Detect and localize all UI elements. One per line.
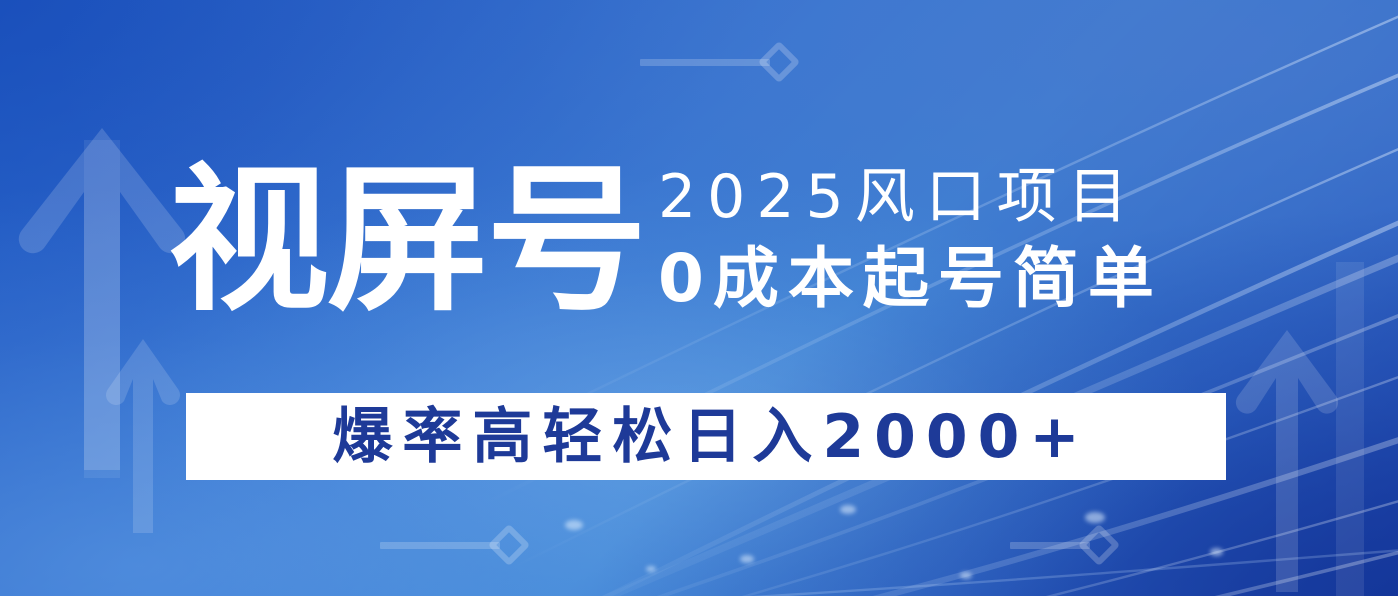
subheading-line-2: 0成本起号简单 <box>658 236 1163 322</box>
tagline-text: 爆率高轻松日入2000+ <box>322 405 1089 469</box>
brand-title: 视屏号 <box>168 152 645 330</box>
subheading-stack: 2025风口项目 0成本起号简单 <box>658 158 1163 322</box>
tagline-banner: 爆率高轻松日入2000+ <box>186 393 1226 480</box>
banner-content: 视屏号 2025风口项目 0成本起号简单 爆率高轻松日入2000+ <box>0 0 1398 596</box>
headline-row: 视屏号 2025风口项目 0成本起号简单 <box>168 152 1163 330</box>
promo-banner: 视屏号 2025风口项目 0成本起号简单 爆率高轻松日入2000+ <box>0 0 1398 596</box>
subheading-line-1: 2025风口项目 <box>658 158 1163 236</box>
